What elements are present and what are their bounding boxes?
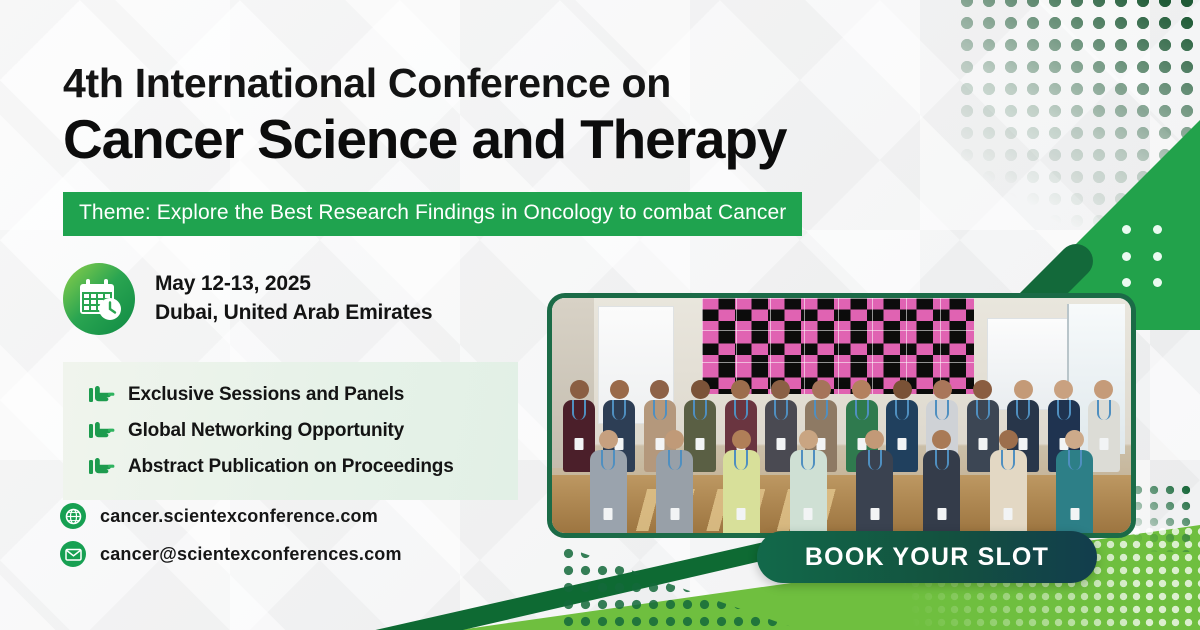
feature-item: Global Networking Opportunity — [89, 420, 508, 442]
feature-label: Exclusive Sessions and Panels — [128, 384, 404, 406]
features-panel: Exclusive Sessions and Panels Global Net… — [63, 362, 518, 500]
white-dot-grid-decoration — [1122, 225, 1168, 295]
feature-item: Exclusive Sessions and Panels — [89, 384, 508, 406]
calendar-clock-icon — [63, 263, 135, 335]
book-your-slot-button[interactable]: BOOK YOUR SLOT — [757, 531, 1097, 583]
group-photo — [547, 293, 1136, 538]
feature-label: Global Networking Opportunity — [128, 420, 404, 442]
attendees-front-row — [552, 394, 1131, 533]
event-date: May 12-13, 2025 — [155, 270, 432, 299]
event-date-block: May 12-13, 2025 Dubai, United Arab Emira… — [63, 263, 432, 335]
pointing-hand-icon — [89, 456, 115, 478]
title-line-2: Cancer Science and Therapy — [63, 109, 963, 171]
feature-label: Abstract Publication on Proceedings — [128, 456, 454, 478]
conference-banner: 4th International Conference on Cancer S… — [0, 0, 1200, 630]
theme-banner: Theme: Explore the Best Research Finding… — [63, 192, 802, 236]
pointing-hand-icon — [89, 384, 115, 406]
event-location: Dubai, United Arab Emirates — [155, 299, 432, 328]
page-title: 4th International Conference on Cancer S… — [63, 60, 963, 170]
cta-label: BOOK YOUR SLOT — [805, 543, 1049, 572]
theme-text: Theme: Explore the Best Research Finding… — [79, 201, 786, 224]
title-line-1: 4th International Conference on — [63, 60, 963, 107]
pointing-hand-icon — [89, 420, 115, 442]
feature-item: Abstract Publication on Proceedings — [89, 456, 508, 478]
